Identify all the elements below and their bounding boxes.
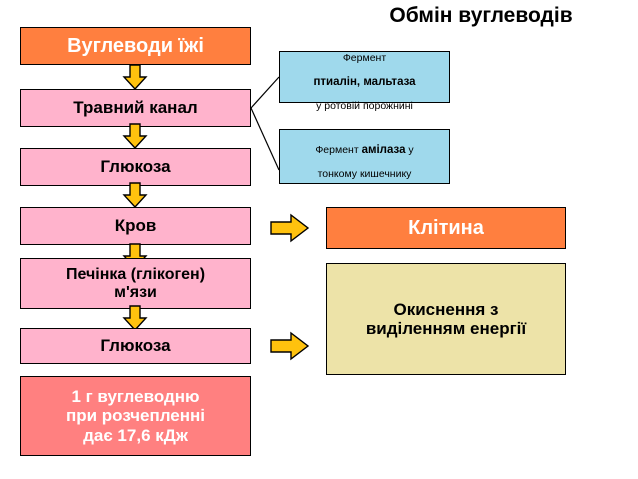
node-glucose-intestinal: Глюкоза xyxy=(20,148,251,186)
enzyme-gut-location: тонкому кишечнику xyxy=(318,168,412,180)
arrow-right-icon xyxy=(270,331,310,361)
node-blood: Кров xyxy=(20,207,251,245)
enzyme-mouth-names: птиалін, мальтаза xyxy=(313,76,415,88)
arrow-down-icon xyxy=(122,64,148,90)
node-dietary-carbohydrates: Вуглеводи їжі xyxy=(20,27,251,65)
enzyme-gut-name: амілаза xyxy=(362,144,406,156)
enzyme-mouth-line1: Фермент xyxy=(343,52,386,64)
page-title: Обмін вуглеводів xyxy=(336,4,626,28)
note-enzymes-mouth: Фермент птиалін, мальтаза у ротовій поро… xyxy=(279,51,450,103)
node-oxidation-energy-release: Окиснення з виділенням енергії xyxy=(326,263,566,375)
node-digestive-tract: Травний канал xyxy=(20,89,251,127)
enzyme-gut-prefix: Фермент xyxy=(315,144,361,156)
enzyme-gut-suffix: у xyxy=(405,144,413,156)
enzyme-mouth-location: у ротовій порожнині xyxy=(316,100,413,112)
note-energy-yield: 1 г вуглеводню при розчепленні дає 17,6 … xyxy=(20,376,251,456)
node-liver-glycogen-muscles: Печінка (глікоген) м'язи xyxy=(20,258,251,309)
note-enzymes-intestine: Фермент амілаза у тонкому кишечнику xyxy=(279,129,450,184)
arrow-right-icon xyxy=(270,213,310,243)
arrow-down-icon xyxy=(122,182,148,208)
node-cell: Клітина xyxy=(326,207,566,249)
node-glucose-released: Глюкоза xyxy=(20,328,251,364)
arrow-down-icon xyxy=(122,123,148,149)
diagram-canvas: Обмін вуглеводів Вуглеводи їжі Травний к… xyxy=(0,0,638,479)
